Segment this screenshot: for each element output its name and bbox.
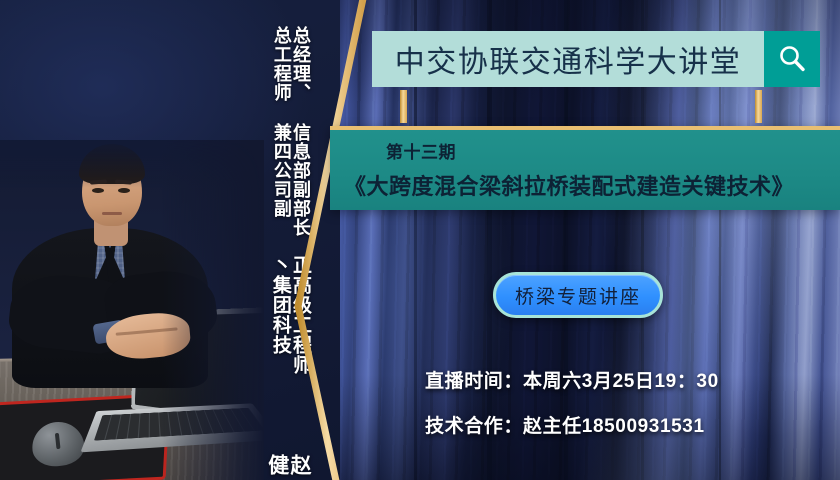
episode-label: 第十三期 (372, 138, 840, 163)
webinar-poster: 赵健 正高级工程师丶集团科技 信息部副部长兼四公司副 总经理、总工程师 中交协联… (0, 0, 840, 480)
category-badge-label: 桥梁专题讲座 (515, 282, 641, 309)
speaker-role-line-3: 总经理、总工程师 (272, 26, 310, 117)
speaker-role-line-1: 正高级工程师丶集团科技 (270, 255, 310, 387)
speaker-panel: 赵健 正高级工程师丶集团科技 信息部副部长兼四公司副 总经理、总工程师 (0, 0, 340, 480)
channel-title-box: 中交协联交通科学大讲堂 (372, 31, 764, 87)
search-icon (776, 43, 808, 75)
live-time-text: 直播时间：本周六3月25日19：30 (425, 366, 719, 393)
category-badge[interactable]: 桥梁专题讲座 (493, 272, 663, 318)
contact-text: 技术合作：赵主任18500931531 (425, 411, 705, 438)
speaker-name: 赵健 (266, 454, 311, 480)
channel-title: 中交协联交通科学大讲堂 (395, 37, 742, 81)
channel-title-bar: 中交协联交通科学大讲堂 (372, 31, 820, 87)
search-button[interactable] (764, 31, 820, 87)
lecture-title: 《大跨度混合梁斜拉桥装配式建造关键技术》 (344, 169, 840, 201)
speaker-credentials: 赵健 正高级工程师丶集团科技 信息部副部长兼四公司副 总经理、总工程师 (266, 26, 311, 480)
lecture-title-band: 第十三期 《大跨度混合梁斜拉桥装配式建造关键技术》 (330, 126, 840, 210)
gold-tick-left (400, 90, 407, 123)
gold-tick-right (755, 90, 762, 123)
photo-vignette (0, 140, 264, 480)
speaker-role-line-2: 信息部副部长兼四公司副 (272, 123, 310, 249)
speaker-photo (0, 140, 264, 480)
